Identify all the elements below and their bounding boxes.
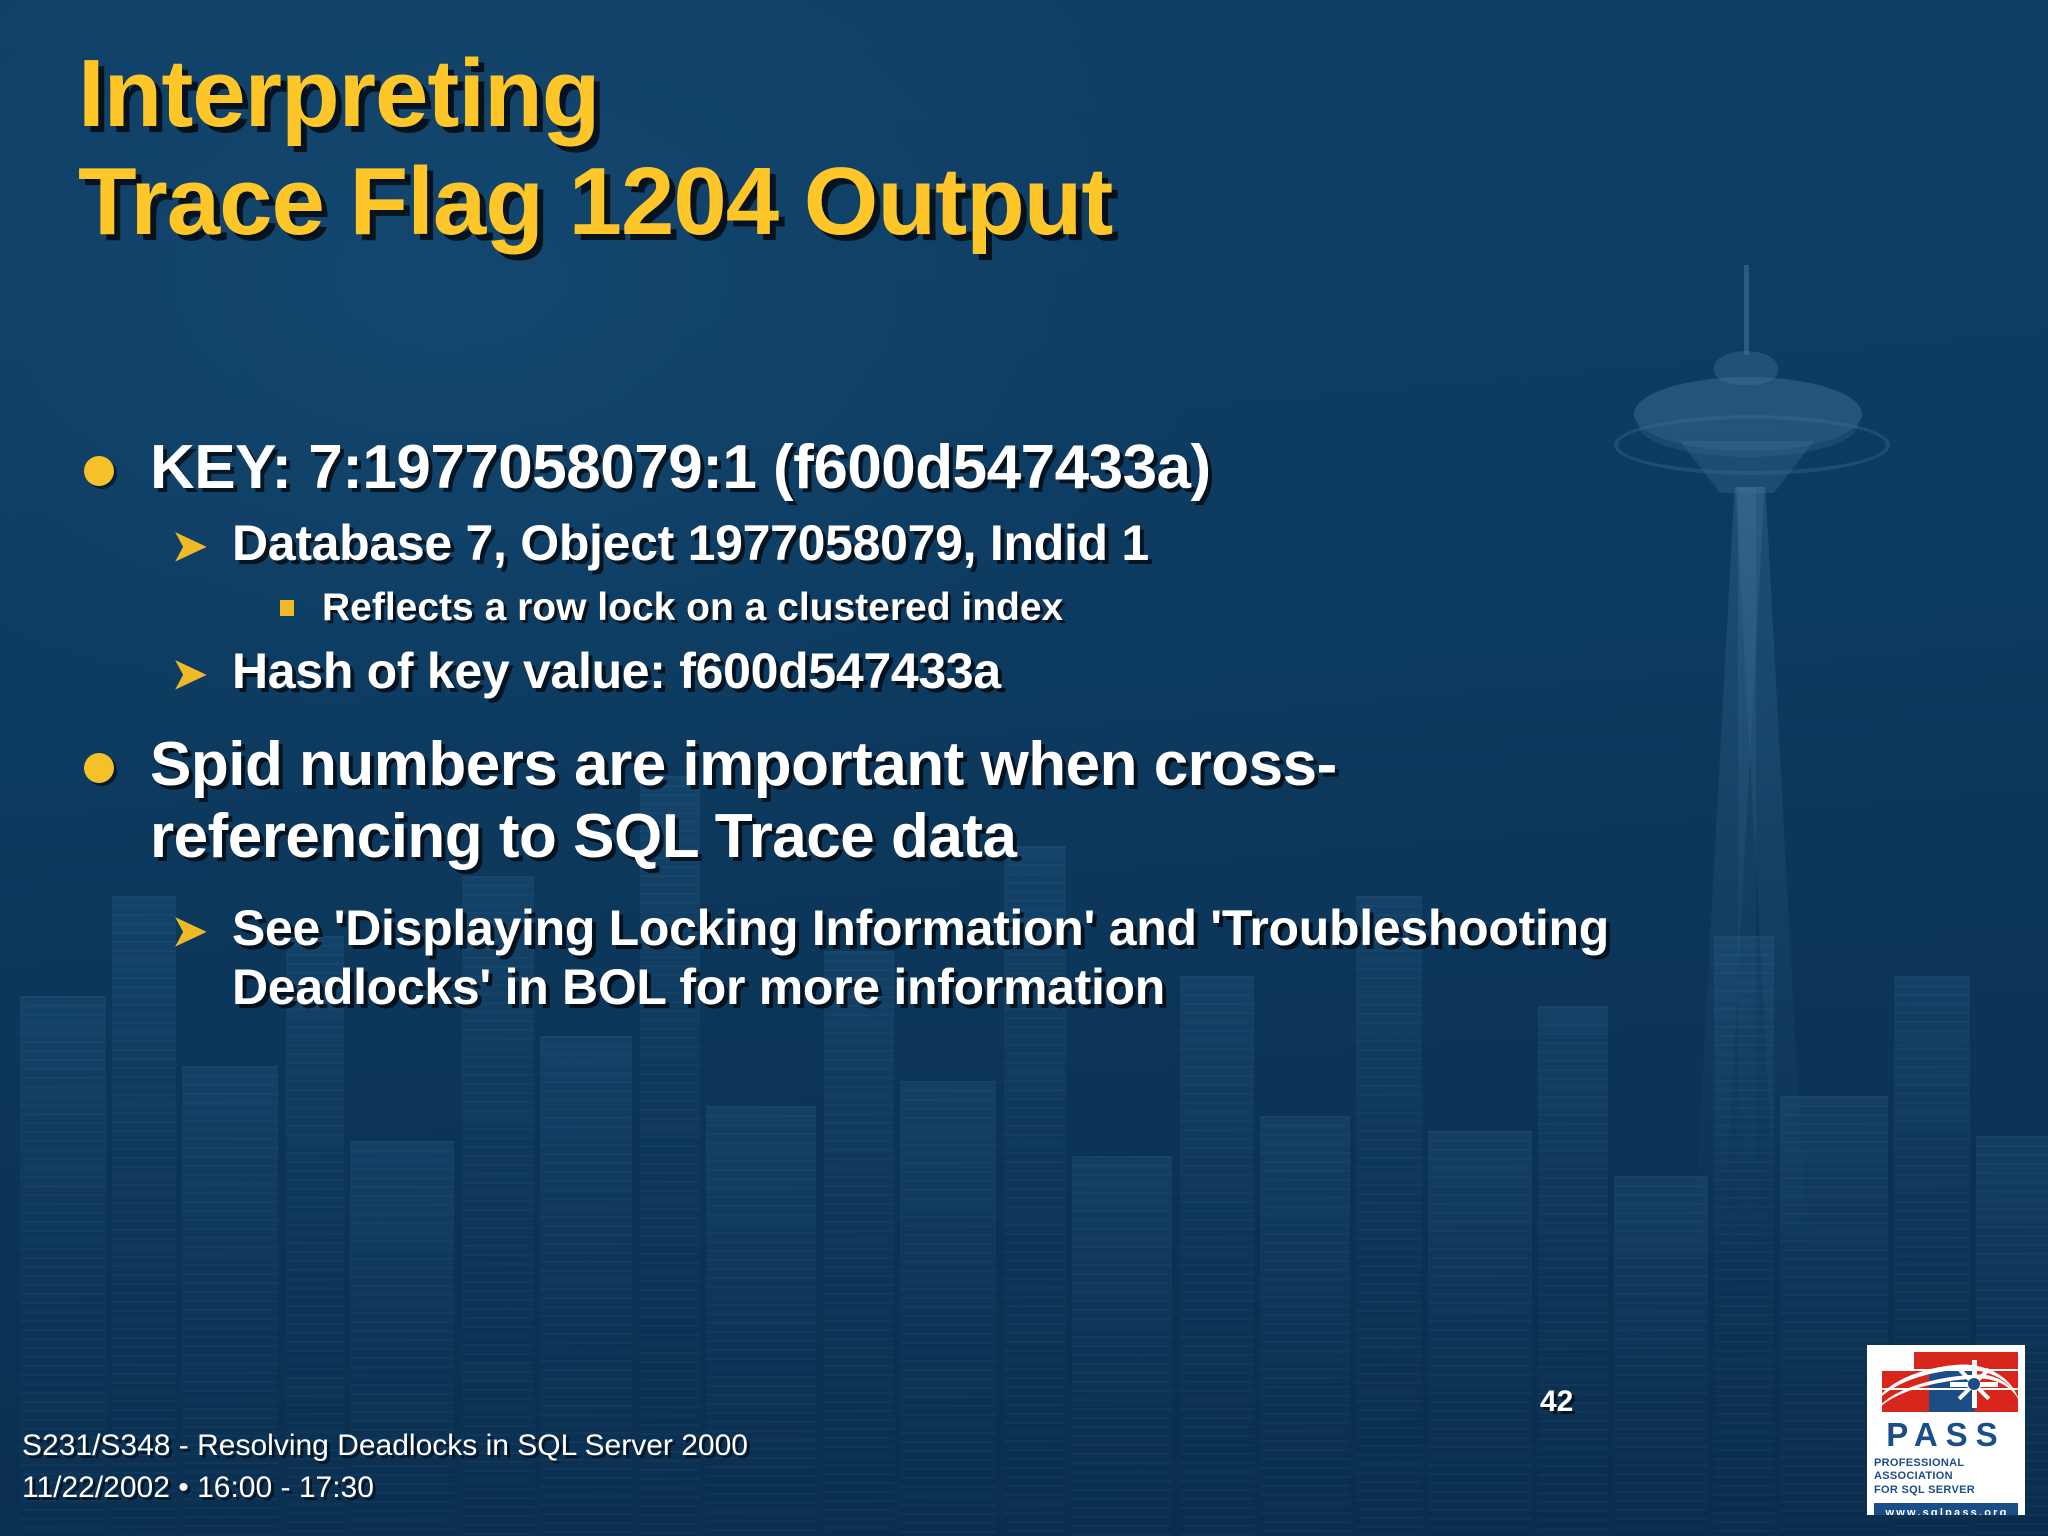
pass-logo: PASS PROFESSIONAL ASSOCIATION FOR SQL SE… — [1867, 1345, 2025, 1515]
slide-number: 42 — [1540, 1385, 1573, 1419]
slide-footer: S231/S348 - Resolving Deadlocks in SQL S… — [22, 1425, 748, 1510]
bullet-text: Spid numbers are important when cross-re… — [150, 730, 1337, 871]
round-bullet-icon — [84, 753, 114, 783]
square-bullet-icon — [280, 600, 294, 616]
slide-body: KEY: 7:1977058079:1 (f600d547433a) ➤ Dat… — [72, 432, 1832, 1023]
pass-logo-wordmark: PASS — [1874, 1418, 2018, 1451]
bullet-text: See 'Displaying Locking Information' and… — [232, 900, 1609, 1015]
bullet-level1-spid: Spid numbers are important when cross-re… — [72, 729, 1480, 873]
pass-tagline-line-2: FOR SQL SERVER — [1874, 1484, 2018, 1497]
footer-datetime: 11/22/2002 • 16:00 - 17:30 — [22, 1467, 748, 1510]
bullet-text: Database 7, Object 1977058079, Indid 1 — [232, 515, 1149, 571]
arrow-bullet-icon: ➤ — [172, 654, 206, 694]
slide-title-line-1: Interpreting — [78, 40, 1718, 148]
bullet-level2-database: ➤ Database 7, Object 1977058079, Indid 1 — [72, 514, 1832, 573]
bullet-level2-hash: ➤ Hash of key value: f600d547433a — [72, 642, 1832, 701]
pass-logo-url: www.sqlpass.org — [1874, 1503, 2018, 1515]
footer-session-title: S231/S348 - Resolving Deadlocks in SQL S… — [22, 1425, 748, 1468]
pass-flag-icon — [1874, 1352, 2018, 1414]
slide-title: Interpreting Trace Flag 1204 Output — [78, 40, 1718, 257]
bullet-text: KEY: 7:1977058079:1 (f600d547433a) — [150, 433, 1211, 502]
bullet-text: Hash of key value: f600d547433a — [232, 643, 1001, 699]
bullet-text: Reflects a row lock on a clustered index — [322, 586, 1063, 629]
presentation-slide: Interpreting Trace Flag 1204 Output KEY:… — [0, 0, 2048, 1536]
pass-tagline-line-1: PROFESSIONAL ASSOCIATION — [1874, 1457, 2018, 1484]
bullet-level2-see-bol: ➤ See 'Displaying Locking Information' a… — [72, 899, 1852, 1017]
bullet-level1-key: KEY: 7:1977058079:1 (f600d547433a) — [72, 432, 1832, 504]
slide-title-line-2: Trace Flag 1204 Output — [78, 148, 1718, 256]
star-burst-icon — [1950, 1360, 1998, 1408]
pass-logo-tagline: PROFESSIONAL ASSOCIATION FOR SQL SERVER — [1874, 1457, 2018, 1497]
round-bullet-icon — [84, 456, 114, 486]
bullet-level3-reflects: Reflects a row lock on a clustered index — [72, 585, 1832, 632]
arrow-bullet-icon: ➤ — [172, 911, 206, 951]
arrow-bullet-icon: ➤ — [172, 526, 206, 566]
